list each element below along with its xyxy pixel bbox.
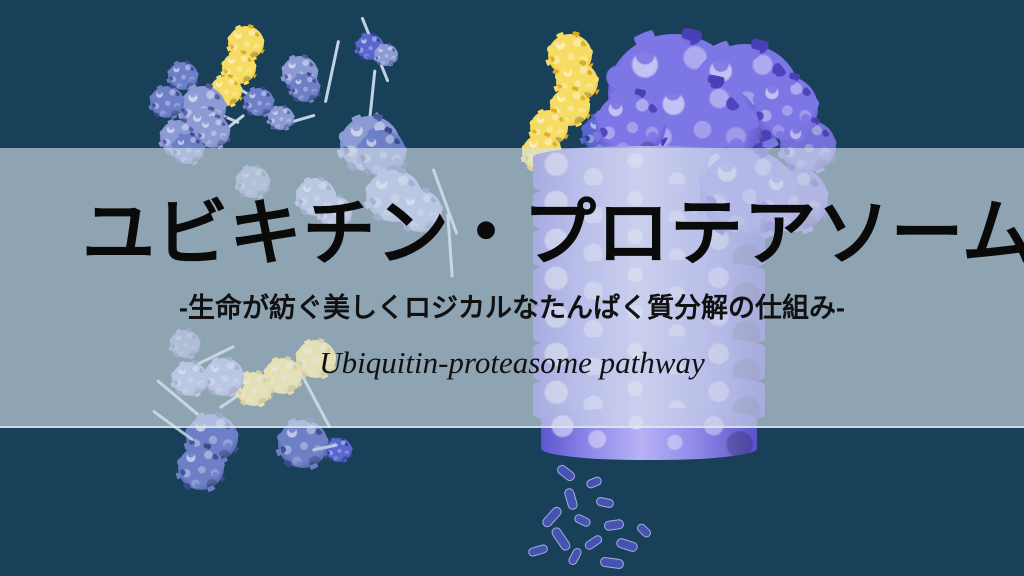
title-band-overlay — [0, 148, 1024, 428]
substrate-protein — [290, 74, 320, 102]
substrate-protein — [326, 438, 352, 462]
peptide-fragment — [527, 543, 549, 557]
peptide-fragment — [595, 496, 614, 509]
peptide-fragment — [573, 513, 592, 529]
peptide-fragment — [540, 505, 563, 530]
substrate-protein — [268, 106, 294, 130]
substrate-protein — [374, 44, 398, 66]
peptide-fragment — [615, 537, 639, 553]
peptide-chain — [324, 40, 340, 103]
subtitle-english: Ubiquitin-proteasome pathway — [0, 344, 1024, 382]
substrate-protein — [178, 446, 224, 490]
peptide-fragment — [567, 546, 583, 566]
peptide-fragment — [583, 533, 604, 551]
peptide-fragment — [635, 522, 653, 540]
slide-canvas: ユビキチン・プロテアソーム経路 -生命が紡ぐ美しくロジカルなたんぱく質分解の仕組… — [0, 0, 1024, 576]
peptide-fragment — [603, 519, 624, 532]
substrate-protein — [150, 86, 184, 118]
peptide-fragment — [550, 525, 573, 552]
band-hairline — [0, 426, 1024, 428]
page-title: ユビキチン・プロテアソーム経路 — [82, 192, 962, 276]
subtitle-japanese: -生命が紡ぐ美しくロジカルなたんぱく質分解の仕組み- — [0, 292, 1024, 324]
peptide-fragment — [585, 475, 603, 489]
peptide-fragment — [599, 556, 624, 569]
peptide-fragment — [563, 487, 579, 511]
